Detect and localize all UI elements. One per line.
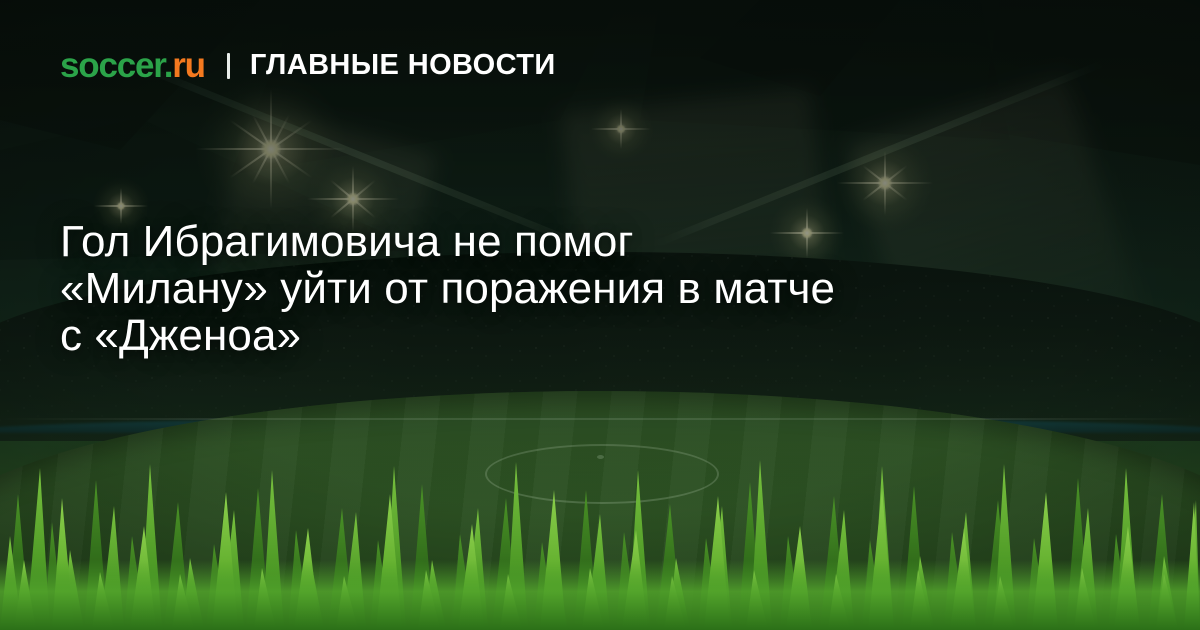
card-header: soccer.ru ГЛАВНЫЕ НОВОСТИ <box>60 48 556 83</box>
soccer-ru-logo[interactable]: soccer.ru <box>60 48 205 83</box>
header-separator-icon <box>227 53 230 79</box>
logo-text-dot: . <box>164 46 173 85</box>
logo-text-ru: ru <box>172 46 205 85</box>
section-label: ГЛАВНЫЕ НОВОСТИ <box>250 51 556 80</box>
headline-line-3: с «Дженоа» <box>60 312 1150 359</box>
og-preview-card: soccer.ru ГЛАВНЫЕ НОВОСТИ Гол Ибрагимови… <box>0 0 1200 630</box>
logo-text-soccer: soccer <box>60 46 164 85</box>
foreground-grass <box>0 440 1200 630</box>
headline-line-2: «Милану» уйти от поражения в матче <box>60 265 1150 312</box>
headline-line-1: Гол Ибрагимовича не помог <box>60 218 1150 265</box>
headline: Гол Ибрагимовича не помог «Милану» уйти … <box>60 218 1150 359</box>
